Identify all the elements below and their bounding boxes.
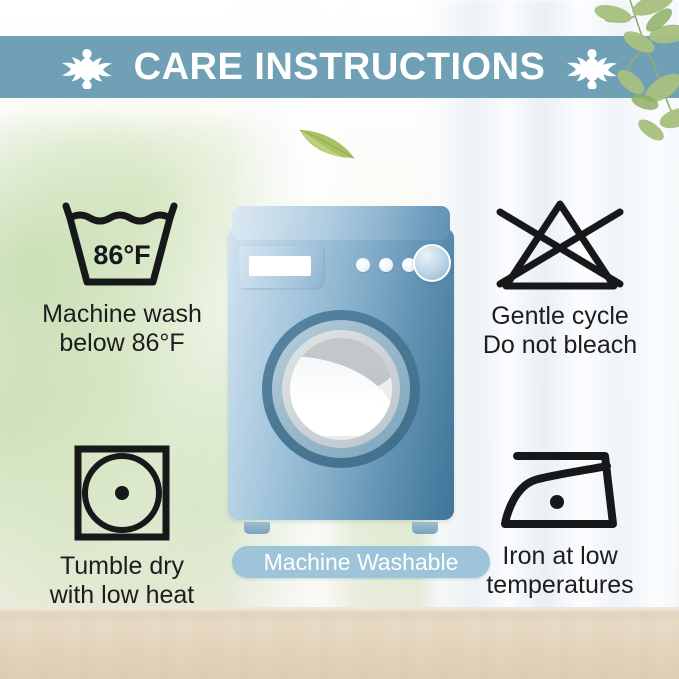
care-instructions-infographic: CARE INSTRUCTIONS [0,0,679,679]
care-symbol-iron: Iron at low temperatures [446,442,674,599]
wash-tub-symbol: 86°F [54,196,190,292]
care-symbol-caption: Tumble dry with low heat [50,552,195,609]
care-symbol-caption: Gentle cycle Do not bleach [483,302,637,359]
care-symbol-caption: Machine wash below 86°F [42,300,202,357]
background-wood-grain [0,613,679,679]
care-symbol-machine-wash: 86°F Machine wash below 86°F [8,196,236,357]
fleur-de-lis-icon [60,45,114,89]
page-title: CARE INSTRUCTIONS [134,48,546,86]
care-symbol-tumble-dry: Tumble dry with low heat [8,442,236,609]
tumble-dry-icon [71,442,173,544]
washer-door-ring [272,320,410,458]
washer-door-glass [290,338,392,440]
badge-label: Machine Washable [264,551,459,574]
washer-top-panel [232,206,450,240]
control-button-dot [379,258,393,272]
control-buttons [356,258,416,272]
washer-foot [244,522,270,534]
detergent-drawer [239,246,323,288]
washer-foot [412,522,438,534]
washing-machine-illustration [228,206,454,526]
iron-icon [495,442,625,534]
crossed-triangle-icon [486,196,634,294]
wash-temperature-value: 86°F [54,240,190,271]
detergent-drawer-slot [249,256,311,276]
floating-leaf-icon [296,124,358,162]
washer-door-rim [282,330,400,448]
care-symbol-do-not-bleach: Gentle cycle Do not bleach [446,196,674,359]
header-banner: CARE INSTRUCTIONS [0,36,679,98]
fleur-de-lis-icon [565,45,619,89]
washer-door [262,310,420,468]
background-wood-edge [0,611,679,617]
control-button-dot [356,258,370,272]
care-symbol-caption: Iron at low temperatures [486,542,633,599]
